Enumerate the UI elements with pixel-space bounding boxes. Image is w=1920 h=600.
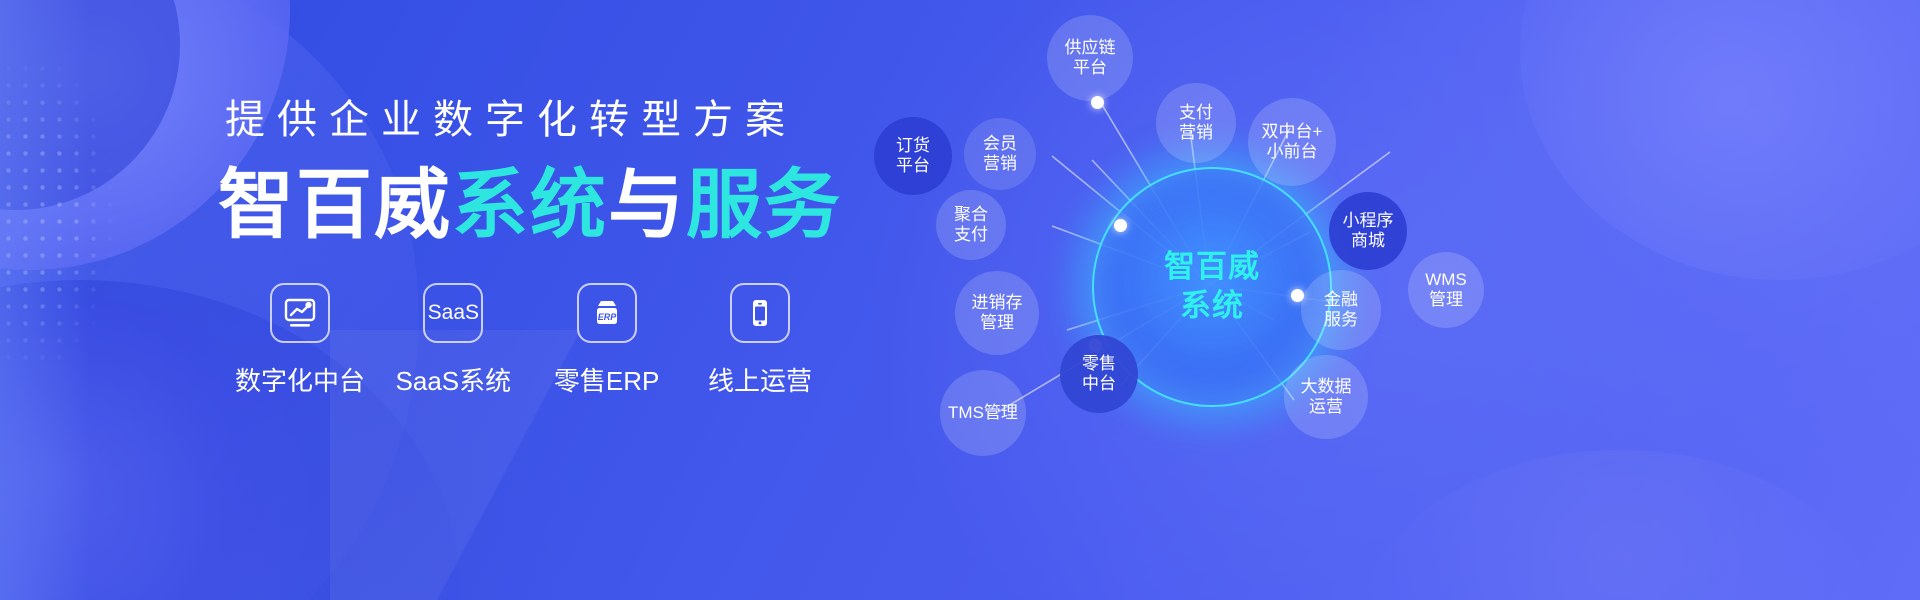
node-label-line-1: TMS管理 — [948, 403, 1018, 423]
node-label-line-1: 零售 — [1082, 354, 1116, 374]
node-label-line-1: WMS — [1425, 270, 1467, 290]
feature-label: 数字化中台 — [235, 368, 365, 394]
node-label-line-2: 营销 — [1179, 123, 1213, 143]
node-label-line-2: 平台 — [1065, 58, 1116, 78]
node-miniprogram-mall[interactable]: 小程序 商城 — [1329, 192, 1407, 270]
saas-text-icon: SaaS — [423, 283, 483, 343]
feature-list: 数字化中台 SaaS SaaS系统 ERP 零售ERP — [240, 283, 820, 433]
node-retail-midend[interactable]: 零售 中台 — [1060, 335, 1138, 413]
node-financial-service[interactable]: 金融 服务 — [1301, 270, 1381, 350]
node-label-line-1: 双中台+ — [1262, 122, 1323, 142]
node-label-line-1: 进销存 — [972, 293, 1023, 313]
node-label-line-1: 会员 — [983, 134, 1017, 154]
node-payment-marketing[interactable]: 支付 营销 — [1156, 83, 1236, 163]
headline-part-3: 与 — [608, 163, 686, 248]
node-label-line-1: 金融 — [1324, 290, 1358, 310]
node-wms-management[interactable]: WMS 管理 — [1408, 252, 1484, 328]
saas-icon-text: SaaS — [428, 301, 479, 325]
node-aggregate-payment[interactable]: 聚合 支付 — [936, 190, 1006, 260]
node-supply-chain-platform[interactable]: 供应链 平台 — [1047, 15, 1133, 101]
node-label-line-2: 中台 — [1082, 374, 1116, 394]
headline-part-2: 系统 — [452, 163, 608, 248]
node-label-line-2: 平台 — [896, 156, 930, 176]
node-label-line-1: 大数据 — [1301, 377, 1352, 397]
core-label-line-2: 系统 — [1180, 287, 1244, 326]
connector-dot-aggregate-pay — [1114, 219, 1127, 232]
feature-item-retail-erp[interactable]: ERP 零售ERP — [547, 283, 667, 394]
node-inventory-management[interactable]: 进销存 管理 — [955, 271, 1039, 355]
node-member-marketing[interactable]: 会员 营销 — [964, 118, 1036, 190]
node-label-line-1: 聚合 — [954, 205, 988, 225]
feature-item-online-ops[interactable]: 线上运营 — [700, 283, 820, 394]
node-label-line-2: 支付 — [954, 225, 988, 245]
node-label-line-1: 供应链 — [1065, 38, 1116, 58]
node-label-line-2: 管理 — [1425, 290, 1467, 310]
chart-image-icon — [270, 283, 330, 343]
headline-part-4: 服务 — [686, 163, 842, 248]
node-label-line-2: 小前台 — [1262, 142, 1323, 162]
svg-text:ERP: ERP — [597, 312, 617, 322]
node-label-line-2: 营销 — [983, 154, 1017, 174]
core-label-line-1: 智百威 — [1164, 248, 1260, 287]
node-label-line-1: 订货 — [896, 136, 930, 156]
node-tms-management[interactable]: TMS管理 — [940, 370, 1026, 456]
node-ordering-platform[interactable]: 订货 平台 — [874, 117, 952, 195]
node-label-line-2: 管理 — [972, 313, 1023, 333]
node-label-line-2: 服务 — [1324, 310, 1358, 330]
hero-subtitle: 提供企业数字化转型方案 — [225, 100, 825, 140]
system-radial-diagram: 智百威 系统 供应链 平台 支付 营销 双中台+ 小前台 — [860, 0, 1920, 600]
feature-item-saas[interactable]: SaaS SaaS系统 — [393, 283, 513, 394]
feature-label: 线上运营 — [708, 368, 812, 394]
erp-box-icon: ERP — [577, 283, 637, 343]
node-label-line-2: 运营 — [1301, 397, 1352, 417]
hero-banner: 提供企业数字化转型方案 智百威系统与服务 数字化中台 SaaS — [0, 0, 1920, 600]
feature-label: 零售ERP — [554, 368, 659, 394]
node-label-line-2: 商城 — [1343, 231, 1394, 251]
hero-copy: 提供企业数字化转型方案 智百威系统与服务 数字化中台 SaaS — [0, 0, 900, 600]
feature-item-digital-midend[interactable]: 数字化中台 — [240, 283, 360, 394]
node-bigdata-operation[interactable]: 大数据 运营 — [1284, 355, 1368, 439]
mobile-phone-icon — [730, 283, 790, 343]
hero-headline: 智百威系统与服务 — [218, 168, 842, 244]
node-label-line-1: 支付 — [1179, 103, 1213, 123]
feature-label: SaaS系统 — [396, 368, 512, 394]
headline-part-1: 智百威 — [218, 163, 452, 248]
node-dual-midend-small-frontend[interactable]: 双中台+ 小前台 — [1248, 98, 1336, 186]
node-label-line-1: 小程序 — [1343, 211, 1394, 231]
